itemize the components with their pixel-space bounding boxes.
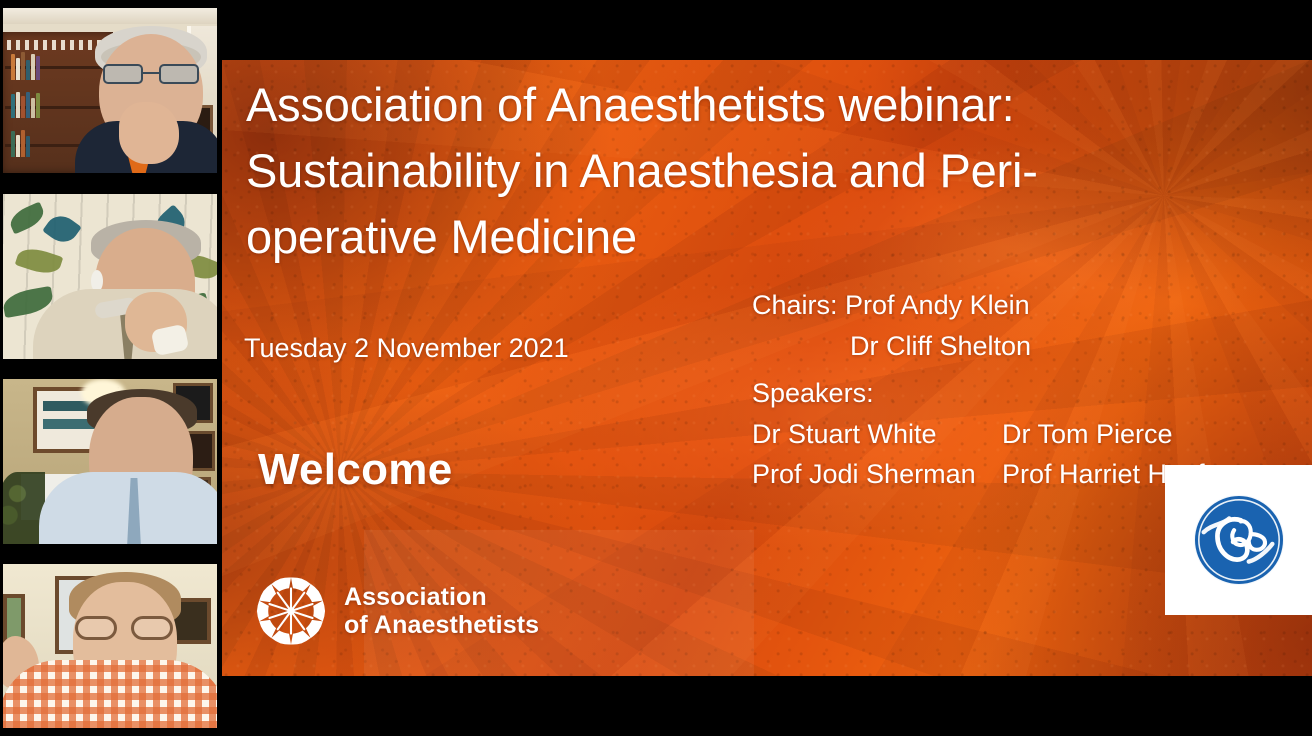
speaker-name: Dr Tom Pierce — [1002, 414, 1173, 455]
meeting-window: Association of Anaesthetists webinar: Su… — [0, 0, 1312, 736]
ge-monogram-icon — [1190, 491, 1288, 589]
slide-title: Association of Anaesthetists webinar: Su… — [246, 72, 1206, 269]
participant-4-scene — [3, 564, 217, 728]
slide-welcome-heading: Welcome — [258, 445, 452, 495]
shared-screen-stage: Association of Anaesthetists webinar: Su… — [222, 0, 1312, 736]
participant-tile-2[interactable] — [0, 186, 220, 367]
speaker-name: Prof Jodi Sherman — [752, 454, 1002, 495]
participant-video-1 — [3, 8, 217, 173]
association-wordmark: Association of Anaesthetists — [344, 583, 539, 640]
participant-video-2 — [3, 194, 217, 359]
slide-date: Tuesday 2 November 2021 — [244, 333, 569, 364]
presentation-slide[interactable]: Association of Anaesthetists webinar: Su… — [222, 60, 1312, 676]
speaker-name: Dr Stuart White — [752, 414, 1002, 455]
participant-2-scene — [3, 194, 217, 359]
starburst-wheel-icon — [254, 574, 328, 648]
association-wordmark-line-2: of Anaesthetists — [344, 611, 539, 640]
participant-3-scene — [3, 379, 217, 544]
participant-tile-3[interactable] — [0, 371, 220, 552]
speakers-label: Speakers: — [752, 373, 1205, 414]
association-logo: Association of Anaesthetists — [254, 574, 539, 648]
participant-video-4 — [3, 564, 217, 728]
participant-1-scene — [3, 8, 217, 173]
speaker-row-2: Prof Jodi Sherman Prof Harriet Hopf — [752, 454, 1205, 495]
association-wordmark-line-1: Association — [344, 583, 539, 612]
participant-tile-4[interactable] — [0, 556, 220, 736]
participant-tile-1[interactable] — [0, 0, 220, 181]
speakers-block: Speakers: Dr Stuart White Dr Tom Pierce … — [752, 373, 1205, 495]
speaker-row-1: Dr Stuart White Dr Tom Pierce — [752, 414, 1205, 455]
chairs-line-1: Chairs: Prof Andy Klein — [752, 285, 1031, 326]
chairs-block: Chairs: Prof Andy Klein Dr Cliff Shelton — [752, 285, 1031, 367]
chairs-line-2: Dr Cliff Shelton — [752, 326, 1031, 367]
participant-filmstrip — [0, 0, 220, 736]
sponsor-logo-card — [1165, 465, 1312, 615]
participant-video-3 — [3, 379, 217, 544]
